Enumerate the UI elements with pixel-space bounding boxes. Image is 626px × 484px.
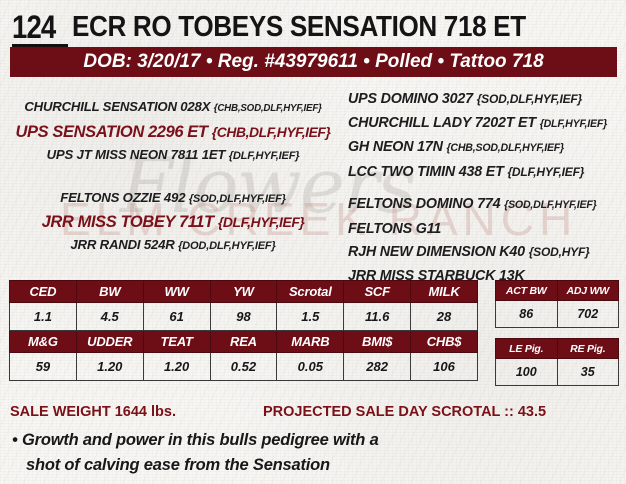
side-header-cell: LE Pig. — [496, 339, 558, 359]
pedigree-trait-tag: {DLF,HYF,IEF} — [540, 118, 607, 130]
pedigree-animal: LCC TWO TIMIN 438 ET — [348, 164, 504, 180]
table-row-headers: LE Pig. RE Pig. — [496, 339, 619, 359]
pedigree-trait-tag: {SOD,HYF} — [529, 245, 590, 259]
pedigree-trait-tag: {CHB,SOD,DLF,HYF,IEF} — [447, 142, 564, 154]
side-header-cell: RE Pig. — [557, 339, 619, 359]
pedigree-line: JRR RANDI 524R {DOD,DLF,HYF,IEF} — [6, 234, 340, 257]
pedigree-trait-tag: {DLF,HYF,IEF} — [507, 165, 584, 179]
pedigree-column-right: UPS DOMINO 3027 {SOD,DLF,HYF,IEF} CHURCH… — [348, 88, 626, 288]
pedigree-line: GH NEON 17N {CHB,SOD,DLF,HYF,IEF} — [348, 136, 626, 161]
registration-info-text: DOB: 3/20/17 • Reg. #43979611 • Polled •… — [83, 52, 543, 72]
note-line: • Growth and power in this bulls pedigre… — [12, 428, 612, 453]
side-header-cell: ADJ WW — [557, 281, 619, 301]
pigment-table: LE Pig. RE Pig. 100 35 — [495, 338, 619, 386]
side-value-cell: 100 — [496, 359, 558, 386]
pedigree-trait-tag: {CHB,SOD,DLF,HYF,IEF} — [214, 103, 322, 114]
registration-info-bar: DOB: 3/20/17 • Reg. #43979611 • Polled •… — [10, 47, 617, 77]
epd-table: CED BW WW YW Scrotal SCF MILK 1.1 4.5 61… — [9, 280, 478, 381]
catalog-page: Flowers ELM CREEK RANCH 124 ECR RO TOBEY… — [0, 0, 626, 484]
epd-header-cell: Scrotal — [277, 281, 344, 303]
epd-header-cell: TEAT — [143, 331, 210, 353]
weights-line: SALE WEIGHT 1644 lbs. PROJECTED SALE DAY… — [10, 403, 616, 423]
side-value-cell: 702 — [557, 301, 619, 328]
table-row-headers-1: CED BW WW YW Scrotal SCF MILK — [10, 281, 478, 303]
epd-value-cell: 1.5 — [277, 303, 344, 331]
pedigree-trait-tag: {DLF,HYF,IEF} — [229, 150, 300, 162]
epd-header-cell: CED — [10, 281, 77, 303]
epd-header-cell: BW — [76, 281, 143, 303]
pedigree-animal: FELTONS DOMINO 774 — [348, 196, 500, 212]
epd-header-cell: WW — [143, 281, 210, 303]
pedigree-animal: CHURCHILL SENSATION 028X — [24, 99, 210, 114]
epd-value-cell: 11.6 — [344, 303, 411, 331]
pedigree-line: LCC TWO TIMIN 438 ET {DLF,HYF,IEF} — [348, 161, 626, 185]
table-row-values: 100 35 — [496, 359, 619, 386]
epd-header-cell: SCF — [344, 281, 411, 303]
pedigree-animal: FELTONS OZZIE 492 — [60, 190, 185, 205]
pedigree-line: FELTONS G11 — [348, 218, 626, 242]
lot-number: 124 — [12, 10, 55, 44]
pedigree-line: RJH NEW DIMENSION K40 {SOD,HYF} — [348, 241, 626, 265]
pedigree-line: FELTONS OZZIE 492 {SOD,DLF,HYF,IEF} — [6, 187, 340, 210]
pedigree-trait-tag: {SOD,DLF,HYF,IEF} — [189, 193, 286, 205]
pedigree-trait-tag: {DLF,HYF,IEF} — [218, 214, 304, 230]
actual-weights-table: ACT BW ADJ WW 86 702 — [495, 280, 619, 328]
epd-value-cell: 98 — [210, 303, 277, 331]
pedigree-spacer — [348, 184, 626, 193]
pedigree-line: FELTONS DOMINO 774 {SOD,DLF,HYF,IEF} — [348, 193, 626, 218]
table-row-headers-2: M&G UDDER TEAT REA MARB BMI$ CHB$ — [10, 331, 478, 353]
side-value-cell: 35 — [557, 359, 619, 386]
epd-header-cell: BMI$ — [344, 331, 411, 353]
table-row-values-2: 59 1.20 1.20 0.52 0.05 282 106 — [10, 353, 478, 381]
pedigree-line: UPS JT MISS NEON 7811 1ET {DLF,HYF,IEF} — [6, 144, 340, 167]
pedigree-column-left: CHURCHILL SENSATION 028X {CHB,SOD,DLF,HY… — [6, 96, 340, 257]
epd-header-cell: CHB$ — [411, 331, 478, 353]
epd-header-cell: MILK — [411, 281, 478, 303]
pedigree-animal: UPS JT MISS NEON 7811 1ET — [47, 147, 226, 162]
pedigree-line: JRR MISS TOBEY 711T {DLF,HYF,IEF} — [6, 210, 340, 234]
pedigree-animal: UPS DOMINO 3027 — [348, 91, 473, 107]
pedigree-animal: UPS SENSATION 2296 ET — [15, 123, 207, 141]
table-row-headers: ACT BW ADJ WW — [496, 281, 619, 301]
epd-value-cell: 1.20 — [76, 353, 143, 381]
epd-value-cell: 0.05 — [277, 353, 344, 381]
side-value-cell: 86 — [496, 301, 558, 328]
epd-header-cell: M&G — [10, 331, 77, 353]
projected-scrotal-text: PROJECTED SALE DAY SCROTAL :: 43.5 — [263, 403, 546, 421]
epd-value-cell: 282 — [344, 353, 411, 381]
pedigree-animal: CHURCHILL LADY 7202T ET — [348, 115, 536, 131]
epd-header-cell: MARB — [277, 331, 344, 353]
pedigree-line: UPS DOMINO 3027 {SOD,DLF,HYF,IEF} — [348, 88, 626, 112]
table-row-values-1: 1.1 4.5 61 98 1.5 11.6 28 — [10, 303, 478, 331]
epd-value-cell: 1.20 — [143, 353, 210, 381]
epd-value-cell: 61 — [143, 303, 210, 331]
notes-block: • Growth and power in this bulls pedigre… — [12, 428, 612, 478]
side-header-cell: ACT BW — [496, 281, 558, 301]
epd-value-cell: 28 — [411, 303, 478, 331]
pedigree-trait-tag: {CHB,DLF,HYF,IEF} — [212, 124, 331, 140]
epd-value-cell: 59 — [10, 353, 77, 381]
pedigree-line: CHURCHILL LADY 7202T ET {DLF,HYF,IEF} — [348, 112, 626, 137]
epd-header-cell: YW — [210, 281, 277, 303]
lot-number-underline — [12, 44, 68, 47]
pedigree-animal: FELTONS G11 — [348, 221, 441, 237]
epd-header-cell: UDDER — [76, 331, 143, 353]
pedigree-animal: JRR MISS TOBEY 711T — [42, 213, 214, 231]
epd-value-cell: 106 — [411, 353, 478, 381]
pedigree-trait-tag: {SOD,DLF,HYF,IEF} — [504, 199, 596, 211]
pedigree-animal: RJH NEW DIMENSION K40 — [348, 244, 525, 260]
sale-weight-text: SALE WEIGHT 1644 lbs. — [10, 403, 176, 421]
epd-value-cell: 4.5 — [76, 303, 143, 331]
epd-header-cell: REA — [210, 331, 277, 353]
epd-value-cell: 1.1 — [10, 303, 77, 331]
epd-value-cell: 0.52 — [210, 353, 277, 381]
pedigree-trait-tag: {DOD,DLF,HYF,IEF} — [178, 240, 276, 252]
page-header: 124 ECR RO TOBEYS SENSATION 718 ET — [0, 8, 626, 46]
page-title: ECR RO TOBEYS SENSATION 718 ET — [72, 11, 526, 43]
table-row-values: 86 702 — [496, 301, 619, 328]
note-line: shot of calving ease from the Sensation — [12, 453, 612, 478]
pedigree-spacer — [6, 167, 340, 187]
pedigree-animal: JRR RANDI 524R — [70, 237, 174, 252]
pedigree-line: CHURCHILL SENSATION 028X {CHB,SOD,DLF,HY… — [6, 96, 340, 120]
pedigree-trait-tag: {SOD,DLF,HYF,IEF} — [477, 92, 582, 106]
pedigree-line: UPS SENSATION 2296 ET {CHB,DLF,HYF,IEF} — [6, 120, 340, 144]
pedigree-animal: GH NEON 17N — [348, 139, 443, 155]
